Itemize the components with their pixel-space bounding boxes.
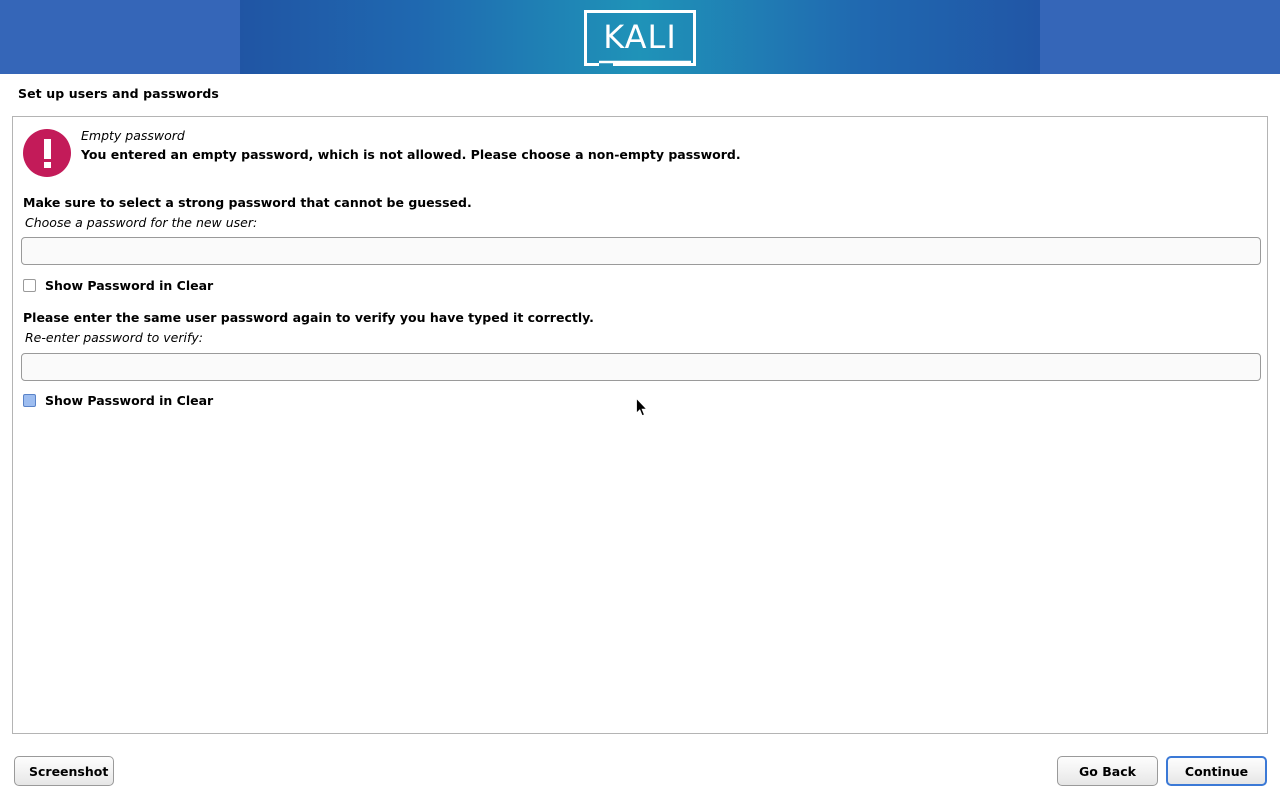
page-title: Set up users and passwords <box>18 86 219 101</box>
password-section-heading: Make sure to select a strong password th… <box>23 195 472 210</box>
screenshot-button[interactable]: Screenshot <box>14 756 114 786</box>
password-field-label: Choose a password for the new user: <box>25 215 257 230</box>
show-password-checkbox-label-2: Show Password in Clear <box>45 393 213 408</box>
verify-field-label: Re-enter password to verify: <box>25 330 203 345</box>
error-exclamation-icon <box>23 129 71 177</box>
show-password-checkbox-2[interactable] <box>23 394 36 407</box>
installer-content-panel: Empty password You entered an empty pass… <box>12 116 1268 734</box>
kali-logo-icon: KALI <box>583 10 697 66</box>
verify-password-input[interactable] <box>21 353 1261 381</box>
kali-wordmark: KALI <box>583 10 697 66</box>
password-input[interactable] <box>21 237 1261 265</box>
continue-button[interactable]: Continue <box>1166 756 1267 786</box>
go-back-button[interactable]: Go Back <box>1057 756 1158 786</box>
show-password-checkbox-label-1: Show Password in Clear <box>45 278 213 293</box>
kali-banner: KALI <box>0 0 1280 74</box>
error-block: Empty password You entered an empty pass… <box>13 117 1267 189</box>
show-password-checkbox-row-2[interactable]: Show Password in Clear <box>23 393 213 408</box>
verify-section-heading: Please enter the same user password agai… <box>23 310 594 325</box>
error-title: Empty password <box>81 128 185 143</box>
show-password-checkbox-1[interactable] <box>23 279 36 292</box>
error-message: You entered an empty password, which is … <box>81 147 741 162</box>
show-password-checkbox-row-1[interactable]: Show Password in Clear <box>23 278 213 293</box>
